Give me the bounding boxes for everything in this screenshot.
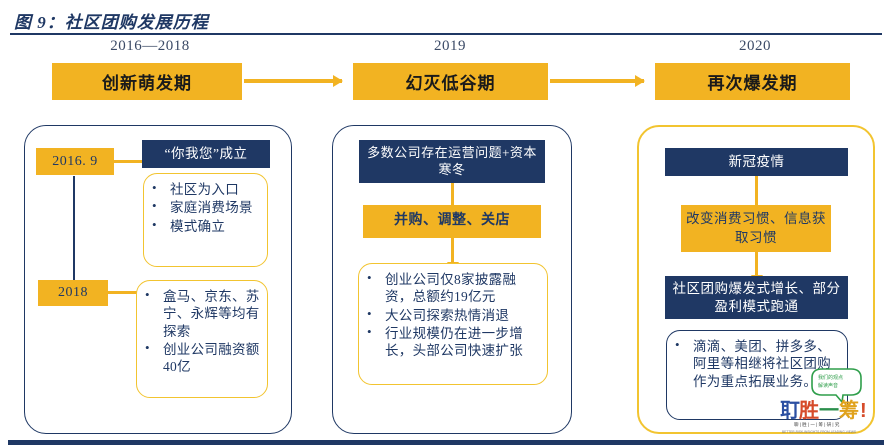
list-item: 模式确立	[148, 218, 261, 235]
svg-text:BETTER-RISK-INSIGHTS-FROM-LEAD: BETTER-RISK-INSIGHTS-FROM-LEADING-VIEWS	[782, 430, 856, 434]
timeline-arrow-left	[73, 176, 75, 284]
bottom-rule	[8, 440, 884, 445]
svg-text:胜: 胜	[799, 399, 819, 422]
arrow-action-to-bullets-middle	[451, 238, 454, 263]
bullet-box-middle: 创业公司仅8家披露融资，总额约19亿元 大公司探索热情消退 行业规模仍在进一步增…	[358, 263, 548, 385]
connector-tag-to-headline-left	[113, 160, 143, 163]
list-item: 大公司探索热情消退	[363, 307, 541, 324]
phase-bar-trough[interactable]: 幻灭低谷期	[353, 63, 548, 100]
headline-box-left[interactable]: “你我您”成立	[142, 140, 270, 168]
svg-text:我们的观点: 我们的观点	[818, 374, 843, 381]
list-item: 盒马、京东、苏宁、永辉等均有探索	[141, 288, 261, 340]
svg-text:一: 一	[819, 400, 839, 422]
bullet-box-left-top: 社区为入口 家庭消费场景 模式确立	[143, 173, 268, 267]
connector-headline-to-effect-right	[755, 176, 758, 207]
svg-text:耵: 耵	[780, 400, 800, 422]
headline-box-right[interactable]: 新冠疫情	[665, 148, 848, 176]
svg-text:!: !	[860, 400, 867, 422]
speech-bubble-icon: 我们的观点 解读声音	[812, 369, 861, 402]
year-label-3: 2020	[660, 38, 850, 55]
milestone-tag-2018[interactable]: 2018	[38, 280, 108, 306]
result-box-right[interactable]: 社区团购爆发式增长、部分盈利模式跑通	[665, 276, 848, 319]
watermark-wordmark: 耵 胜 一 筹 ! 聊 | 胜 | 一 | 筹 | 研 | 究 BETTER-R…	[780, 398, 867, 434]
svg-text:筹: 筹	[839, 398, 859, 422]
bullet-list-middle: 创业公司仅8家披露融资，总额约19亿元 大公司探索热情消退 行业规模仍在进一步增…	[363, 271, 541, 359]
list-item: 家庭消费场景	[148, 199, 261, 216]
action-box-middle[interactable]: 并购、调整、关店	[363, 205, 541, 238]
year-label-1: 2016—2018	[60, 38, 240, 55]
connector-tag-to-bullets-left	[106, 291, 138, 294]
effect-box-right[interactable]: 改变消费习惯、信息获取习惯	[681, 205, 831, 252]
milestone-tag-2016[interactable]: 2016. 9	[36, 148, 114, 175]
watermark-logo: 我们的观点 解读声音 耵 胜 一 筹 ! 聊 | 胜 | 一 | 筹 | 研 |…	[780, 367, 888, 437]
bullet-list-left-top: 社区为入口 家庭消费场景 模式确立	[148, 181, 261, 235]
phase-bar-innovation[interactable]: 创新萌发期	[52, 63, 242, 100]
bullet-box-left-bottom: 盒马、京东、苏宁、永辉等均有探索 创业公司融资额40亿	[136, 280, 268, 398]
phase-bar-reboom[interactable]: 再次爆发期	[655, 63, 850, 100]
figure-title: 图 9：社区团购发展历程	[14, 8, 209, 33]
list-item: 行业规模仍在进一步增长，头部公司快速扩张	[363, 325, 541, 360]
svg-text:聊 | 胜 | 一 | 筹 | 研 | 究: 聊 | 胜 | 一 | 筹 | 研 | 究	[794, 421, 840, 428]
list-item: 创业公司仅8家披露融资，总额约19亿元	[363, 271, 541, 306]
phase-arrow-2-to-3	[550, 79, 644, 83]
phase-arrow-1-to-2	[244, 79, 342, 83]
svg-text:解读声音: 解读声音	[818, 382, 838, 389]
headline-box-middle[interactable]: 多数公司存在运营问题+资本寒冬	[359, 140, 545, 183]
list-item: 社区为入口	[148, 181, 261, 198]
year-label-2: 2019	[355, 38, 545, 55]
arrow-effect-to-result-right	[755, 252, 758, 276]
bullet-list-left-bottom: 盒马、京东、苏宁、永辉等均有探索 创业公司融资额40亿	[141, 288, 261, 375]
list-item: 创业公司融资额40亿	[141, 341, 261, 376]
title-underline	[10, 33, 882, 35]
figure-canvas: 图 9：社区团购发展历程 2016—2018 2019 2020 创新萌发期 幻…	[0, 0, 892, 447]
